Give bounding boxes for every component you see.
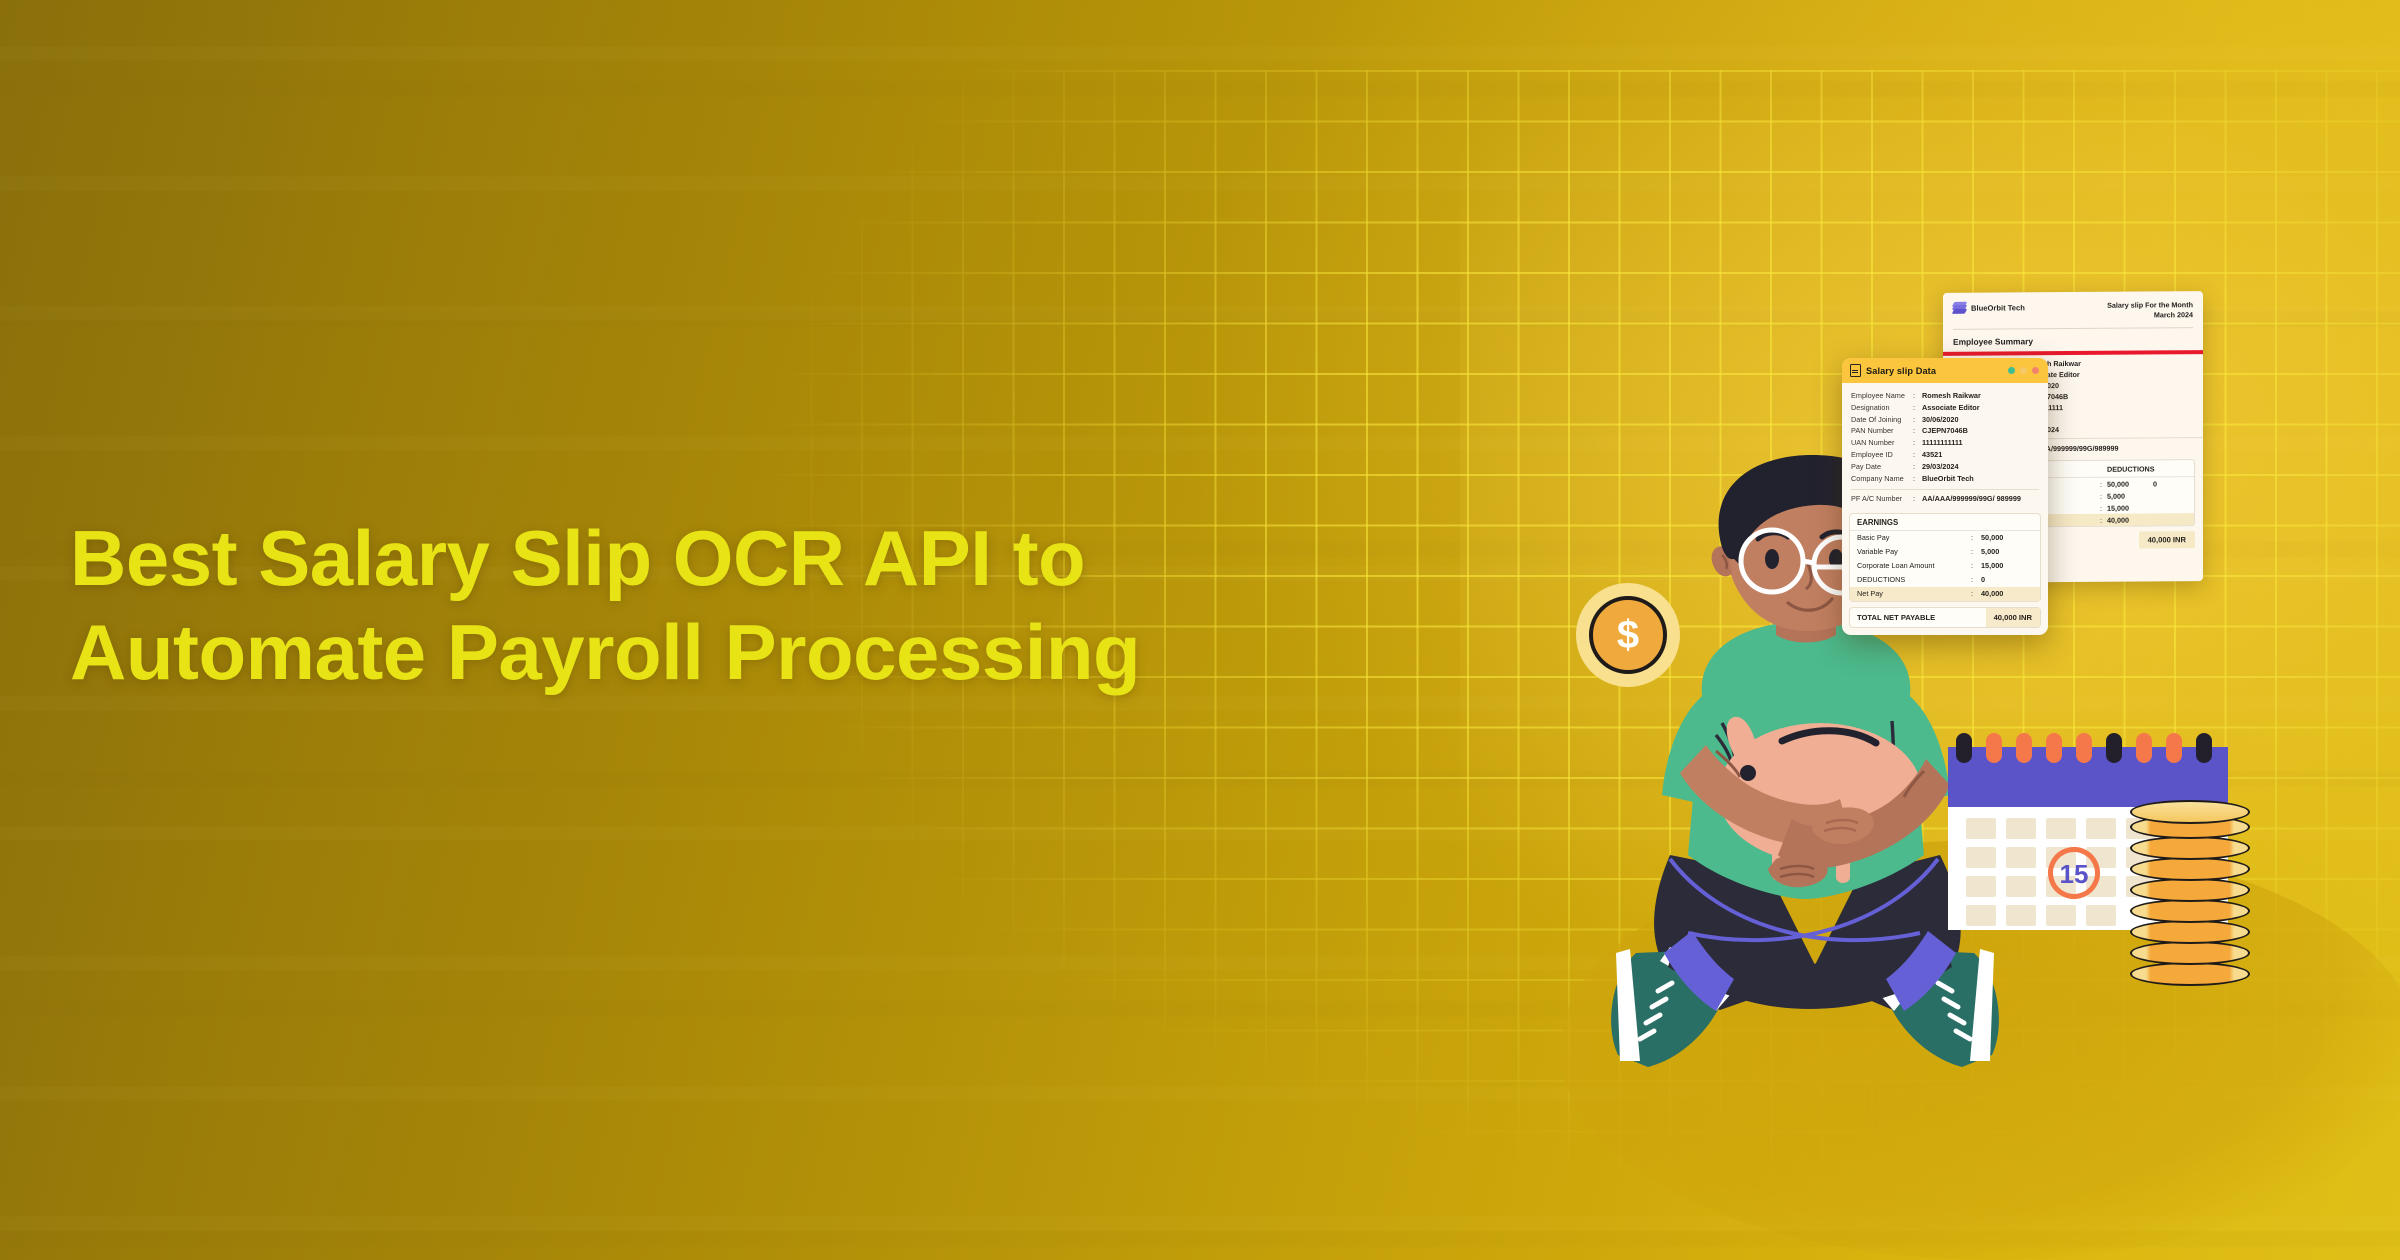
headline-line-2: Automate Payroll Processing bbox=[70, 606, 1490, 700]
coin bbox=[2130, 878, 2250, 902]
calendar-ring-icon bbox=[2136, 733, 2152, 763]
card-earnings-row: Corporate Loan Amount:15,000 bbox=[1850, 559, 2040, 573]
earnings-sep: : bbox=[1971, 589, 1981, 600]
doc-company-name: BlueOrbit Tech bbox=[1971, 303, 2025, 312]
coin bbox=[2130, 941, 2250, 965]
doc-row-sep: : bbox=[2100, 515, 2107, 524]
card-field-sep: : bbox=[1913, 449, 1922, 461]
coin bbox=[2130, 857, 2250, 881]
card-pf-sep: : bbox=[1913, 494, 1922, 505]
doc-row-sep: : bbox=[2100, 479, 2107, 488]
card-field-label: Employee Name bbox=[1851, 390, 1913, 402]
coin bbox=[2130, 899, 2250, 923]
earnings-name: Corporate Loan Amount bbox=[1857, 561, 1971, 572]
card-field-value: 30/06/2020 bbox=[1922, 414, 1959, 426]
card-field-row: Employee ID:43521 bbox=[1851, 449, 2039, 461]
card-earnings-row-netpay: Net Pay:40,000 bbox=[1850, 587, 2040, 601]
doc-row-amount: 50,000 bbox=[2107, 479, 2153, 488]
headline-line-1: Best Salary Slip OCR API to bbox=[70, 514, 1085, 602]
calendar-ring-icon bbox=[2106, 733, 2122, 763]
coin-stack-illustration bbox=[2130, 800, 2250, 990]
card-earnings-title: EARNINGS bbox=[1850, 514, 2040, 531]
document-icon bbox=[1850, 364, 1861, 377]
doc-row-sep: : bbox=[2100, 491, 2107, 500]
earnings-name: Variable Pay bbox=[1857, 547, 1971, 558]
card-field-sep: : bbox=[1913, 425, 1922, 437]
card-field-row: Company Name:BlueOrbit Tech bbox=[1851, 473, 2039, 485]
doc-header: BlueOrbit Tech Salary slip For the Month… bbox=[1943, 291, 2203, 329]
calendar-cell bbox=[2046, 818, 2076, 839]
calendar-cell bbox=[2006, 905, 2036, 926]
card-title-text: Salary slip Data bbox=[1866, 366, 1936, 376]
card-pf-row: PF A/C Number : AA/AAA/999999/99G/ 98999… bbox=[1851, 494, 2039, 505]
card-field-row: Pay Date:29/03/2024 bbox=[1851, 461, 2039, 473]
coin bbox=[2130, 962, 2250, 986]
earnings-name: Basic Pay bbox=[1857, 533, 1971, 544]
salary-slip-data-card: Salary slip Data Employee Name:Romesh Ra… bbox=[1842, 358, 2048, 635]
card-field-label: Date Of Joining bbox=[1851, 414, 1913, 426]
card-title-group: Salary slip Data bbox=[1850, 364, 2008, 377]
doc-deductions-header: DEDUCTIONS bbox=[2107, 464, 2187, 474]
page-title: Best Salary Slip OCR API to Automate Pay… bbox=[70, 512, 1490, 699]
earnings-sep: : bbox=[1971, 561, 1981, 572]
dollar-coin-icon: $ bbox=[1576, 583, 1680, 687]
coin bbox=[2130, 920, 2250, 944]
doc-row-deduction bbox=[2153, 491, 2187, 500]
calendar-cell bbox=[2006, 818, 2036, 839]
card-field-sep: : bbox=[1913, 473, 1922, 485]
card-field-label: Company Name bbox=[1851, 473, 1913, 485]
card-field-row: Employee Name:Romesh Raikwar bbox=[1851, 390, 2039, 402]
blueorbit-logo-icon bbox=[1953, 302, 1966, 315]
doc-period: Salary slip For the Month March 2024 bbox=[2107, 300, 2193, 321]
window-dot-green[interactable] bbox=[2008, 367, 2015, 374]
card-field-value: 43521 bbox=[1922, 449, 1942, 461]
doc-total-amount: 40,000 INR bbox=[2139, 531, 2195, 548]
card-field-sep: : bbox=[1913, 402, 1922, 414]
card-field-value: 29/03/2024 bbox=[1922, 461, 1959, 473]
calendar-cell bbox=[2006, 876, 2036, 897]
card-field-value: Romesh Raikwar bbox=[1922, 390, 1981, 402]
card-titlebar: Salary slip Data bbox=[1842, 358, 2048, 383]
card-field-label: UAN Number bbox=[1851, 437, 1913, 449]
earnings-sep: : bbox=[1971, 533, 1981, 544]
calendar-cell bbox=[1966, 876, 1996, 897]
calendar-cell bbox=[2046, 905, 2076, 926]
card-field-value: 11111111111 bbox=[1922, 437, 1963, 449]
card-field-sep: : bbox=[1913, 390, 1922, 402]
calendar-ring-icon bbox=[1986, 733, 2002, 763]
card-field-row: Designation:Associate Editor bbox=[1851, 402, 2039, 414]
card-field-list: Employee Name:Romesh Raikwar Designation… bbox=[1842, 383, 2048, 508]
calendar-ring-icon bbox=[2076, 733, 2092, 763]
card-total-amount: 40,000 INR bbox=[1986, 608, 2040, 627]
calendar-ring-icon bbox=[1956, 733, 1972, 763]
earnings-amount: 0 bbox=[1981, 575, 2033, 586]
doc-row-deduction: 0 bbox=[2153, 479, 2187, 488]
card-divider bbox=[1851, 489, 2039, 490]
doc-row-deduction bbox=[2153, 503, 2187, 512]
card-field-label: Employee ID bbox=[1851, 449, 1913, 461]
calendar-highlight-day: 15 bbox=[2053, 859, 2095, 890]
card-field-row: PAN Number:CJEPN7046B bbox=[1851, 425, 2039, 437]
card-field-value: BlueOrbit Tech bbox=[1922, 473, 1974, 485]
doc-row-amount: 40,000 bbox=[2107, 515, 2153, 524]
calendar-ring-icon bbox=[2166, 733, 2182, 763]
card-earnings-row: Basic Pay:50,000 bbox=[1850, 531, 2040, 545]
earnings-sep: : bbox=[1971, 575, 1981, 586]
doc-row-amount: 15,000 bbox=[2107, 503, 2153, 512]
card-field-label: Pay Date bbox=[1851, 461, 1913, 473]
earnings-amount: 50,000 bbox=[1981, 533, 2033, 544]
doc-summary-title: Employee Summary bbox=[1943, 328, 2203, 352]
doc-slip-for: Salary slip For the Month bbox=[2107, 300, 2193, 311]
card-field-sep: : bbox=[1913, 461, 1922, 473]
coin-top bbox=[2130, 800, 2250, 824]
card-total-label: TOTAL NET PAYABLE bbox=[1850, 608, 1986, 627]
card-field-sep: : bbox=[1913, 437, 1922, 449]
card-field-row: UAN Number:11111111111 bbox=[1851, 437, 2039, 449]
card-field-row: Date Of Joining:30/06/2020 bbox=[1851, 414, 2039, 426]
dollar-sign: $ bbox=[1589, 596, 1667, 674]
card-earnings-section: EARNINGS Basic Pay:50,000 Variable Pay:5… bbox=[1849, 513, 2041, 602]
earnings-amount: 15,000 bbox=[1981, 561, 2033, 572]
calendar-ring-icon bbox=[2196, 733, 2212, 763]
doc-brand: BlueOrbit Tech bbox=[1953, 301, 2025, 315]
card-field-value: Associate Editor bbox=[1922, 402, 1980, 414]
earnings-amount: 5,000 bbox=[1981, 547, 2033, 558]
earnings-sep: : bbox=[1971, 547, 1981, 558]
doc-row-sep: : bbox=[2100, 503, 2107, 512]
calendar-cell bbox=[1966, 905, 1996, 926]
window-dot-yellow[interactable] bbox=[2020, 367, 2027, 374]
calendar-cell bbox=[2006, 847, 2036, 868]
doc-row-deduction bbox=[2153, 515, 2187, 524]
card-pf-value: AA/AAA/999999/99G/ 989999 bbox=[1922, 494, 2021, 505]
earnings-amount: 40,000 bbox=[1981, 589, 2033, 600]
card-field-label: Designation bbox=[1851, 402, 1913, 414]
earnings-name: Net Pay bbox=[1857, 589, 1971, 600]
calendar-cell bbox=[2086, 905, 2116, 926]
doc-row-amount: 5,000 bbox=[2107, 491, 2153, 500]
window-dot-red[interactable] bbox=[2032, 367, 2039, 374]
card-field-value: CJEPN7046B bbox=[1922, 425, 1968, 437]
calendar-cell bbox=[1966, 818, 1996, 839]
card-earnings-row: Variable Pay:5,000 bbox=[1850, 545, 2040, 559]
calendar-cell bbox=[2086, 818, 2116, 839]
doc-slip-month: March 2024 bbox=[2107, 311, 2193, 322]
calendar-ring-icon bbox=[2016, 733, 2032, 763]
window-controls[interactable] bbox=[2008, 367, 2039, 374]
hero-banner: Best Salary Slip OCR API to Automate Pay… bbox=[0, 0, 2400, 1260]
coin bbox=[2130, 836, 2250, 860]
calendar-cell bbox=[1966, 847, 1996, 868]
card-field-label: PAN Number bbox=[1851, 425, 1913, 437]
card-earnings-row: DEDUCTIONS:0 bbox=[1850, 573, 2040, 587]
card-total-section: TOTAL NET PAYABLE 40,000 INR bbox=[1849, 607, 2041, 628]
card-pf-label: PF A/C Number bbox=[1851, 494, 1913, 505]
calendar-ring-icon bbox=[2046, 733, 2062, 763]
card-field-sep: : bbox=[1913, 414, 1922, 426]
earnings-name: DEDUCTIONS bbox=[1857, 575, 1971, 586]
